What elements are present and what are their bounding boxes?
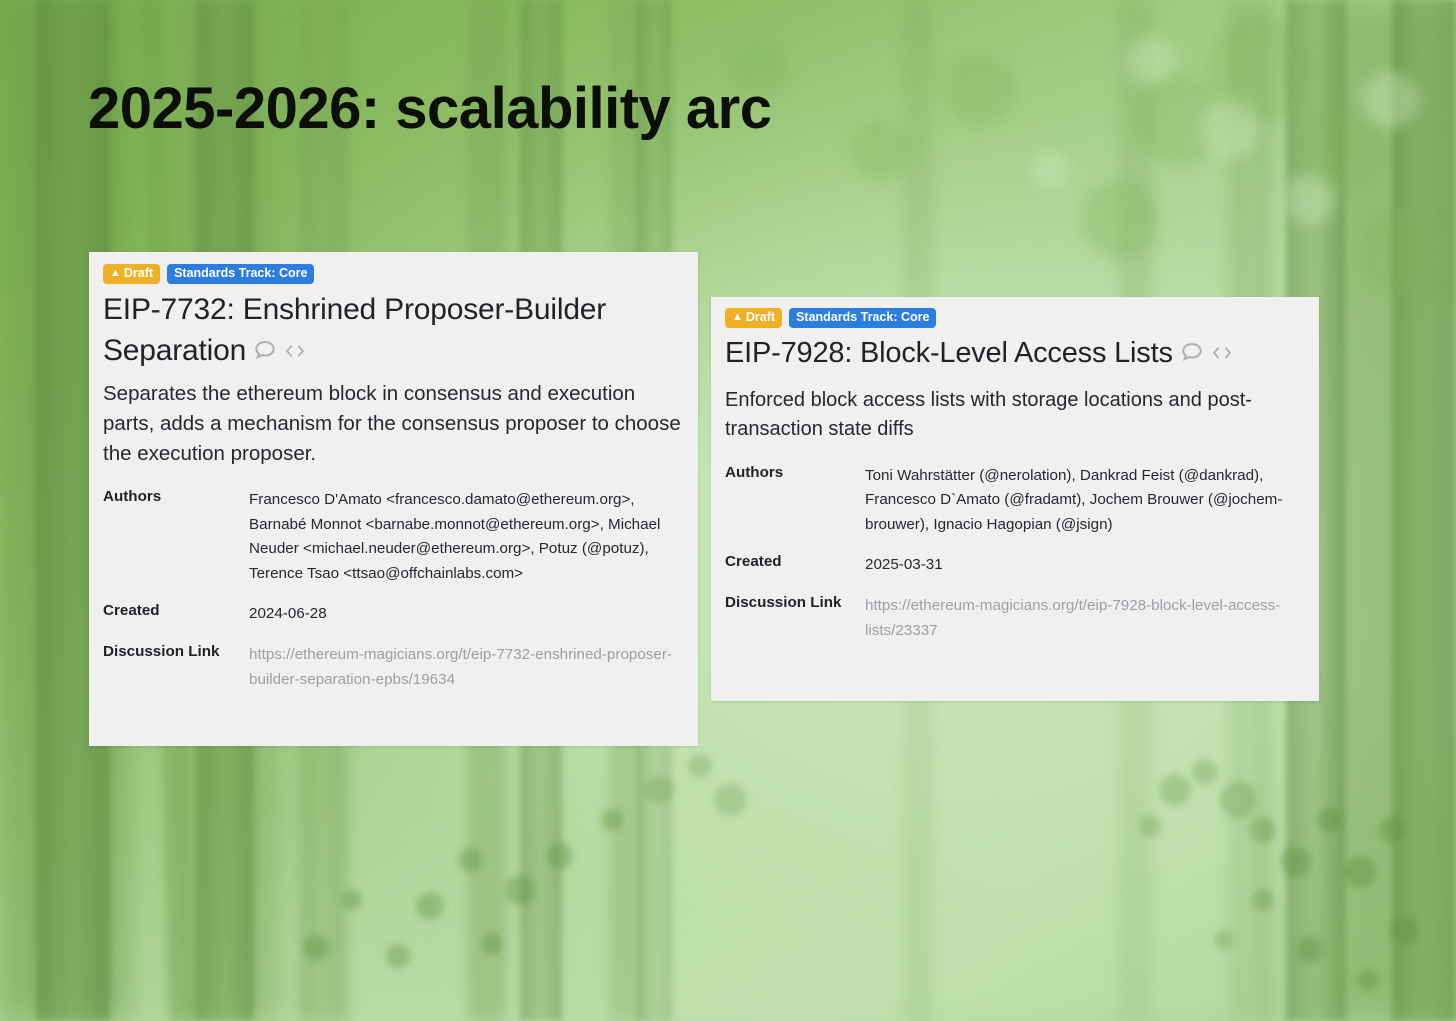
status-badge-draft-label: Draft bbox=[746, 310, 775, 325]
title-icon-group bbox=[246, 334, 306, 367]
eip-title: EIP-7732: Enshrined Proposer-Builder Sep… bbox=[103, 289, 684, 373]
eip-card-7928[interactable]: ▲ Draft Standards Track: Core EIP-7928: … bbox=[711, 297, 1319, 701]
warning-triangle-icon: ▲ bbox=[732, 312, 743, 323]
meta-label-discussion-link: Discussion Link bbox=[725, 589, 865, 645]
eip-metadata-table: Authors Francesco D'Amato <francesco.dam… bbox=[103, 483, 684, 694]
meta-label-created: Created bbox=[725, 548, 865, 589]
eip-title: EIP-7928: Block-Level Access Lists bbox=[725, 333, 1305, 376]
table-row: Authors Toni Wahrstätter (@nerolation), … bbox=[725, 459, 1305, 549]
code-icon[interactable] bbox=[1211, 335, 1233, 376]
comment-icon[interactable] bbox=[1180, 335, 1204, 376]
table-row: Created 2025-03-31 bbox=[725, 548, 1305, 589]
table-row: Created 2024-06-28 bbox=[103, 597, 684, 638]
meta-label-created: Created bbox=[103, 597, 249, 638]
meta-value-created: 2024-06-28 bbox=[249, 597, 684, 638]
meta-value-discussion-link[interactable]: https://ethereum-magicians.org/t/eip-792… bbox=[865, 589, 1305, 645]
eip-description: Separates the ethereum block in consensu… bbox=[103, 379, 684, 469]
page-title: 2025-2026: scalability arc bbox=[88, 76, 771, 143]
table-row: Discussion Link https://ethereum-magicia… bbox=[103, 638, 684, 694]
status-badge-track-label: Standards Track: Core bbox=[796, 310, 929, 325]
status-badge-draft: ▲ Draft bbox=[725, 308, 782, 328]
status-badge-track: Standards Track: Core bbox=[167, 264, 314, 284]
status-badge-draft-label: Draft bbox=[124, 266, 153, 281]
eip-title-text: EIP-7928: Block-Level Access Lists bbox=[725, 337, 1173, 369]
eip-description: Enforced block access lists with storage… bbox=[725, 386, 1305, 444]
badge-row: ▲ Draft Standards Track: Core bbox=[103, 264, 684, 284]
warning-triangle-icon: ▲ bbox=[110, 268, 121, 279]
table-row: Authors Francesco D'Amato <francesco.dam… bbox=[103, 483, 684, 598]
comment-icon[interactable] bbox=[253, 332, 277, 373]
eip-card-7732[interactable]: ▲ Draft Standards Track: Core EIP-7732: … bbox=[89, 252, 698, 746]
slide-canvas: 2025-2026: scalability arc ▲ Draft Stand… bbox=[0, 0, 1456, 1021]
badge-row: ▲ Draft Standards Track: Core bbox=[725, 308, 1305, 328]
meta-value-authors: Francesco D'Amato <francesco.damato@ethe… bbox=[249, 483, 684, 598]
table-row: Discussion Link https://ethereum-magicia… bbox=[725, 589, 1305, 645]
title-icon-group bbox=[1173, 337, 1233, 369]
eip-title-text: EIP-7732: Enshrined Proposer-Builder Sep… bbox=[103, 293, 606, 367]
meta-value-authors: Toni Wahrstätter (@nerolation), Dankrad … bbox=[865, 459, 1305, 549]
eip-metadata-table: Authors Toni Wahrstätter (@nerolation), … bbox=[725, 459, 1305, 646]
meta-label-authors: Authors bbox=[725, 459, 865, 549]
meta-label-authors: Authors bbox=[103, 483, 249, 598]
status-badge-draft: ▲ Draft bbox=[103, 264, 160, 284]
code-icon[interactable] bbox=[284, 332, 306, 373]
status-badge-track-label: Standards Track: Core bbox=[174, 266, 307, 281]
meta-label-discussion-link: Discussion Link bbox=[103, 638, 249, 694]
meta-value-discussion-link[interactable]: https://ethereum-magicians.org/t/eip-773… bbox=[249, 638, 684, 694]
status-badge-track: Standards Track: Core bbox=[789, 308, 936, 328]
meta-value-created: 2025-03-31 bbox=[865, 548, 1305, 589]
